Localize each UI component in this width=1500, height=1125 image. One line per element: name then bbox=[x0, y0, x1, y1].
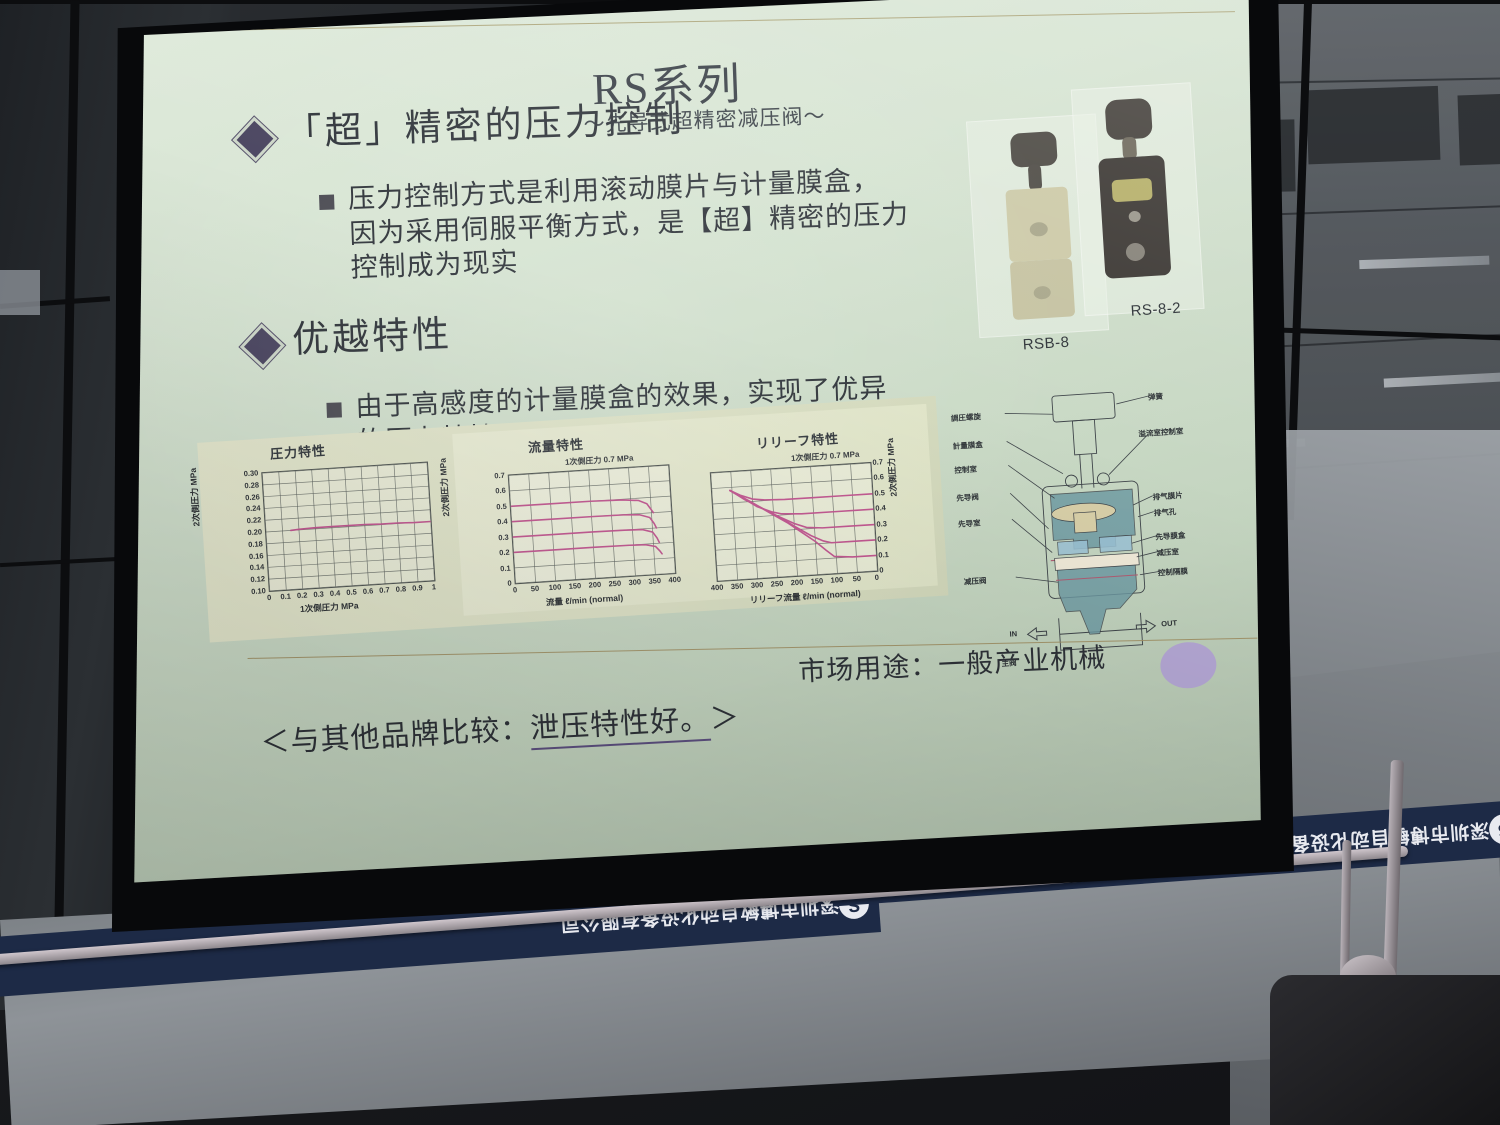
axis-tick: 0.9 bbox=[410, 583, 425, 593]
axis-tick: 0.24 bbox=[241, 504, 261, 514]
axis-tick: 0.5 bbox=[874, 488, 885, 498]
chart-pressure-plot bbox=[261, 462, 435, 592]
footer-comparison-emphasis: 泄压特性好。 bbox=[529, 696, 711, 751]
axis-tick: 0.3 bbox=[489, 532, 509, 542]
axis-tick: 0.6 bbox=[361, 586, 376, 596]
axis-tick: 50 bbox=[528, 584, 543, 594]
axis-tick: 0.8 bbox=[394, 584, 409, 594]
axis-tick: 0.2 bbox=[490, 548, 510, 558]
chart-flow-xlabel: 流量 ℓ/min (normal) bbox=[546, 591, 624, 608]
axis-tick: 150 bbox=[568, 581, 583, 591]
square-bullet-icon-2 bbox=[326, 402, 342, 418]
axis-tick: 0.12 bbox=[246, 574, 266, 584]
projected-slide: RS系列 ～先导式超精密减压阀～ 「超」精密的压力控制 压力控制方式是利用滚动膜… bbox=[85, 0, 1291, 901]
axis-tick: 0 bbox=[262, 593, 277, 603]
chart-pressure-xlabel: 1次側圧力 MPa bbox=[300, 599, 359, 615]
axis-tick: 400 bbox=[667, 575, 682, 585]
axis-tick: 350 bbox=[648, 576, 663, 586]
axis-tick: 250 bbox=[770, 579, 785, 589]
footer-comparison-prefix: ＜与其他品牌比较： bbox=[259, 705, 531, 761]
axis-tick: 0.4 bbox=[488, 517, 508, 527]
section-2-heading-text: 优越特性 bbox=[291, 313, 452, 361]
axis-tick: 200 bbox=[790, 577, 805, 587]
axis-tick: 0.4 bbox=[328, 588, 343, 598]
axis-tick: 0.6 bbox=[486, 486, 506, 496]
chart-flow-plot bbox=[508, 464, 677, 584]
diagram-label: 控制室 bbox=[954, 463, 977, 475]
chart-relief-title: リリーフ特性 bbox=[755, 428, 839, 452]
axis-tick: 100 bbox=[548, 582, 563, 592]
diagram-label: 計量膜盒 bbox=[952, 439, 983, 452]
axis-tick: 0.3 bbox=[876, 519, 887, 529]
axis-tick: 0.2 bbox=[295, 590, 310, 600]
wall-fixture bbox=[0, 270, 40, 315]
section-2-heading: 优越特性 bbox=[245, 313, 452, 363]
axis-tick: 0.14 bbox=[245, 563, 265, 573]
axis-tick: 0.7 bbox=[872, 457, 883, 467]
axis-tick: 250 bbox=[608, 579, 623, 589]
axis-tick: 0.28 bbox=[240, 480, 260, 490]
axis-tick: 0 bbox=[508, 585, 523, 595]
axis-tick: 0.4 bbox=[875, 503, 886, 513]
diagram-port-in: IN bbox=[1009, 629, 1017, 638]
axis-tick: 200 bbox=[588, 580, 603, 590]
axis-tick: 0.2 bbox=[877, 534, 888, 544]
chart-flow-annotation: 1次側圧力 0.7 MPa bbox=[565, 453, 634, 468]
axis-tick: 0.20 bbox=[243, 527, 263, 537]
product-label-rs82: RS-8-2 bbox=[1130, 300, 1181, 320]
diagram-label: 先导膜盒 bbox=[1155, 530, 1186, 543]
axis-tick: 300 bbox=[750, 580, 765, 590]
axis-tick: 1 bbox=[427, 582, 442, 592]
screenshot-root: 深圳市博敏自动化设备有限公司 S 深圳市博敏自动化设备有限公司 S RS系列 ～… bbox=[0, 0, 1500, 1125]
axis-tick: 0.1 bbox=[878, 550, 889, 560]
square-bullet-icon bbox=[319, 194, 335, 210]
axis-tick: 0.16 bbox=[244, 551, 264, 561]
footer-market-use: 市场用途：一般产业机械 bbox=[797, 636, 1106, 689]
diagram-label: 减压阀 bbox=[964, 575, 987, 587]
diagram-label: 調圧螺旋 bbox=[951, 411, 982, 424]
axis-tick: 100 bbox=[830, 575, 845, 585]
axis-tick: 0.22 bbox=[242, 515, 262, 525]
chart-flow-title: 流量特性 bbox=[527, 434, 584, 457]
axis-tick: 0.3 bbox=[311, 589, 326, 599]
axis-tick: 0.5 bbox=[487, 502, 507, 512]
diagram-label: 排气膜片 bbox=[1152, 490, 1183, 503]
chair bbox=[1270, 975, 1500, 1125]
axis-tick: 0.5 bbox=[344, 587, 359, 597]
chart-flow: 流量特性 1次側圧力 0.7 MPa 0.70.60.50.40.30.20.1… bbox=[466, 427, 707, 616]
valve-cross-section-diagram: 調圧螺旋計量膜盒控制室先导阀先导室减压阀 弹簧溢流室控制室排气膜片排气孔先导膜盒… bbox=[939, 374, 1197, 669]
axis-tick: 350 bbox=[730, 581, 745, 591]
axis-tick: 0.26 bbox=[241, 492, 261, 502]
axis-tick: 0.30 bbox=[239, 468, 259, 478]
chart-relief-plot bbox=[710, 462, 879, 582]
axis-tick: 300 bbox=[628, 577, 643, 587]
chart-pressure-title: 圧力特性 bbox=[269, 440, 326, 463]
chart-relief-annotation: 1次側圧力 0.7 MPa bbox=[791, 449, 860, 464]
axis-tick: 150 bbox=[810, 576, 825, 586]
chart-relief-xlabel: リリーフ流量 ℓ/min (normal) bbox=[750, 587, 861, 606]
product-label-rsb8: RSB-8 bbox=[1022, 334, 1070, 354]
axis-tick: 0.7 bbox=[377, 585, 392, 595]
axis-tick: 400 bbox=[710, 583, 725, 593]
section-1-heading: 「超」精密的压力控制 bbox=[238, 98, 685, 156]
axis-tick: 0 bbox=[870, 572, 885, 582]
footer-comparison-suffix: ＞ bbox=[709, 694, 741, 738]
footer-comparison: ＜与其他品牌比较： 泄压特性好。 ＞ bbox=[259, 694, 741, 764]
axis-tick: 0.1 bbox=[491, 563, 511, 573]
diamond-bullet-icon bbox=[232, 117, 277, 162]
axis-tick: 0.6 bbox=[873, 473, 884, 483]
diagram-label: 先导阀 bbox=[956, 491, 979, 503]
diagram-label: 先导室 bbox=[958, 517, 981, 529]
section-1-bullet: 压力控制方式是利用滚动膜片与计量膜盒， 因为采用伺服平衡方式，是【超】精密的压力… bbox=[319, 162, 911, 287]
axis-tick: 0.1 bbox=[278, 591, 293, 601]
diagram-port-out: OUT bbox=[1161, 618, 1177, 628]
diamond-bullet-icon-2 bbox=[240, 324, 285, 369]
axis-tick: 0.7 bbox=[486, 471, 506, 481]
diagram-label: 排气孔 bbox=[1153, 506, 1176, 518]
section-1-heading-text: 「超」精密的压力控制 bbox=[284, 98, 685, 155]
diagram-label: 减压室 bbox=[1156, 546, 1179, 558]
product-photo-rs82 bbox=[1071, 82, 1205, 316]
chart-relief: リリーフ特性 1次側圧力 0.7 MPa 0.70.60.50.40.30.20… bbox=[698, 422, 944, 612]
axis-tick: 50 bbox=[850, 574, 865, 584]
chart-pressure: 圧力特性 0.300.280.260.240.220.200.180.160.1… bbox=[207, 430, 458, 625]
diagram-label: 弹簧 bbox=[1148, 391, 1164, 403]
diagram-label: 控制隔膜 bbox=[1157, 566, 1188, 579]
axis-tick: 0.18 bbox=[244, 539, 264, 549]
